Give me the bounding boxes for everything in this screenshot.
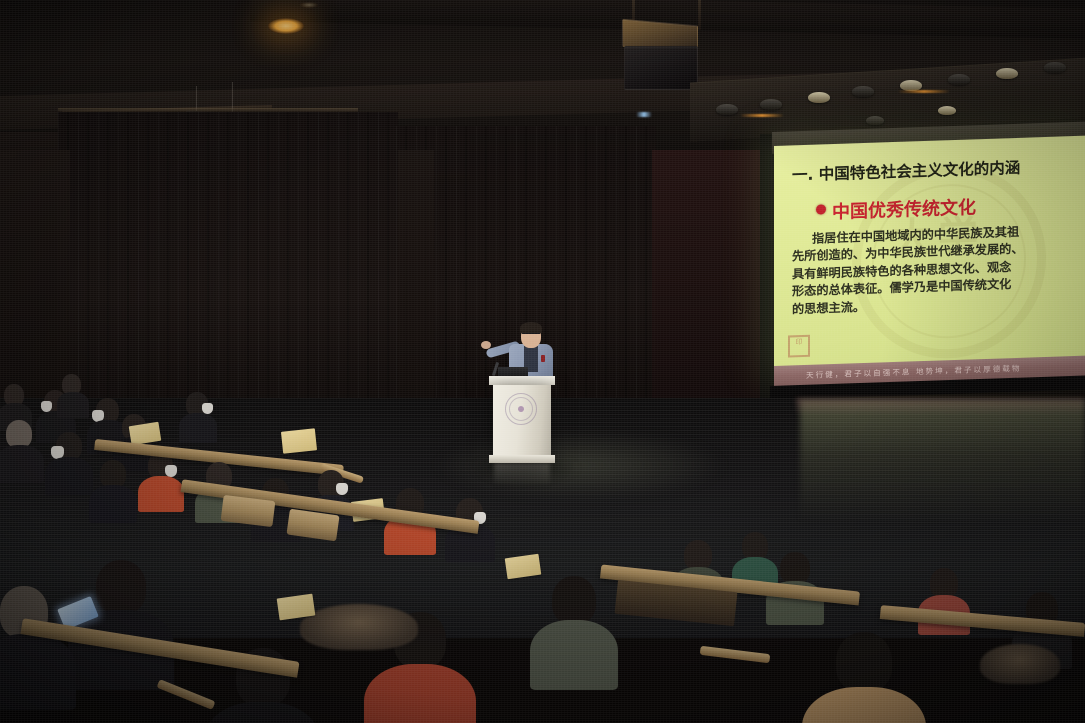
speaker-hand — [481, 341, 491, 349]
audience-shoulders — [0, 445, 44, 483]
audience-shoulders — [45, 457, 93, 495]
audience-shoulders — [89, 485, 137, 523]
slide-heading: 中国优秀传统文化 — [832, 193, 976, 224]
audience-head — [780, 552, 810, 584]
seat-armrest — [156, 679, 215, 710]
fur-hood — [300, 604, 418, 650]
screen-reflection-on-floor — [800, 400, 1085, 520]
audience-shoulders — [204, 702, 320, 723]
can-light-icon-10 — [938, 106, 956, 115]
podium-emblem-icon — [505, 393, 537, 425]
podium-base — [489, 455, 555, 463]
audience-head — [96, 560, 146, 614]
slide-seal-stamp: 印 — [788, 335, 810, 358]
audience-head — [6, 420, 32, 448]
audience-shoulders — [530, 620, 618, 690]
face-mask-icon — [336, 483, 348, 495]
audience-shoulders — [0, 634, 76, 710]
slide-surface: 大学 一. 中国特色社会主义文化的内涵 中国优秀传统文化 指居住在中国地域内的中… — [774, 136, 1085, 368]
projection-screen: 大学 一. 中国特色社会主义文化的内涵 中国优秀传统文化 指居住在中国地域内的中… — [760, 128, 1085, 400]
audience-head — [552, 576, 596, 624]
slide-bullet-icon — [816, 204, 826, 214]
fur-hood — [980, 644, 1060, 684]
slide-body: 指居住在中国地域内的中华民族及其祖 先所创造的、为中华民族世代继承发展的、 具有… — [792, 224, 1024, 319]
proscenium-shadow — [398, 150, 434, 430]
audience-shoulders — [138, 476, 184, 512]
podium-reflection — [494, 463, 550, 485]
auditorium-photo: 大学 一. 中国特色社会主义文化的内涵 中国优秀传统文化 指居住在中国地域内的中… — [0, 0, 1085, 723]
ceiling-lamp-small-icon — [300, 2, 318, 8]
audience-head — [836, 632, 892, 692]
speaker-lapel-pin-icon — [541, 355, 545, 362]
can-light-icon-2 — [760, 99, 782, 110]
audience-head — [684, 540, 712, 570]
stage-light-fixture-body — [624, 46, 698, 90]
audience-shoulders — [802, 687, 926, 723]
audience-head — [100, 460, 126, 488]
wall-left-edge — [0, 150, 70, 410]
warm-light-strip — [898, 90, 950, 93]
banner-reflection-on-floor — [796, 398, 1085, 414]
can-light-icon-6 — [948, 74, 970, 85]
audience-shoulders — [364, 664, 476, 723]
podium-emblem-core-icon — [518, 406, 524, 412]
seat-armrest — [700, 646, 771, 663]
lighting-truss-rod-2 — [698, 0, 701, 30]
speaker-glasses-icon — [522, 333, 540, 338]
audience-shoulders — [57, 392, 89, 418]
can-light-icon-3 — [808, 92, 830, 103]
can-light-icon-8 — [1044, 62, 1066, 73]
can-light-icon-9 — [866, 116, 884, 125]
warm-light-strip-2 — [740, 114, 784, 117]
ceiling-lamp-icon — [268, 18, 304, 34]
can-light-icon-4 — [852, 86, 874, 97]
notebook-page — [281, 428, 317, 453]
audience-head — [742, 532, 768, 560]
can-light-icon-1 — [716, 104, 738, 115]
podium-top — [489, 376, 555, 385]
can-light-icon-7 — [996, 68, 1018, 79]
audience-head — [930, 568, 958, 598]
blue-led-indicator-icon — [636, 112, 652, 117]
audience-shoulders — [179, 413, 217, 443]
